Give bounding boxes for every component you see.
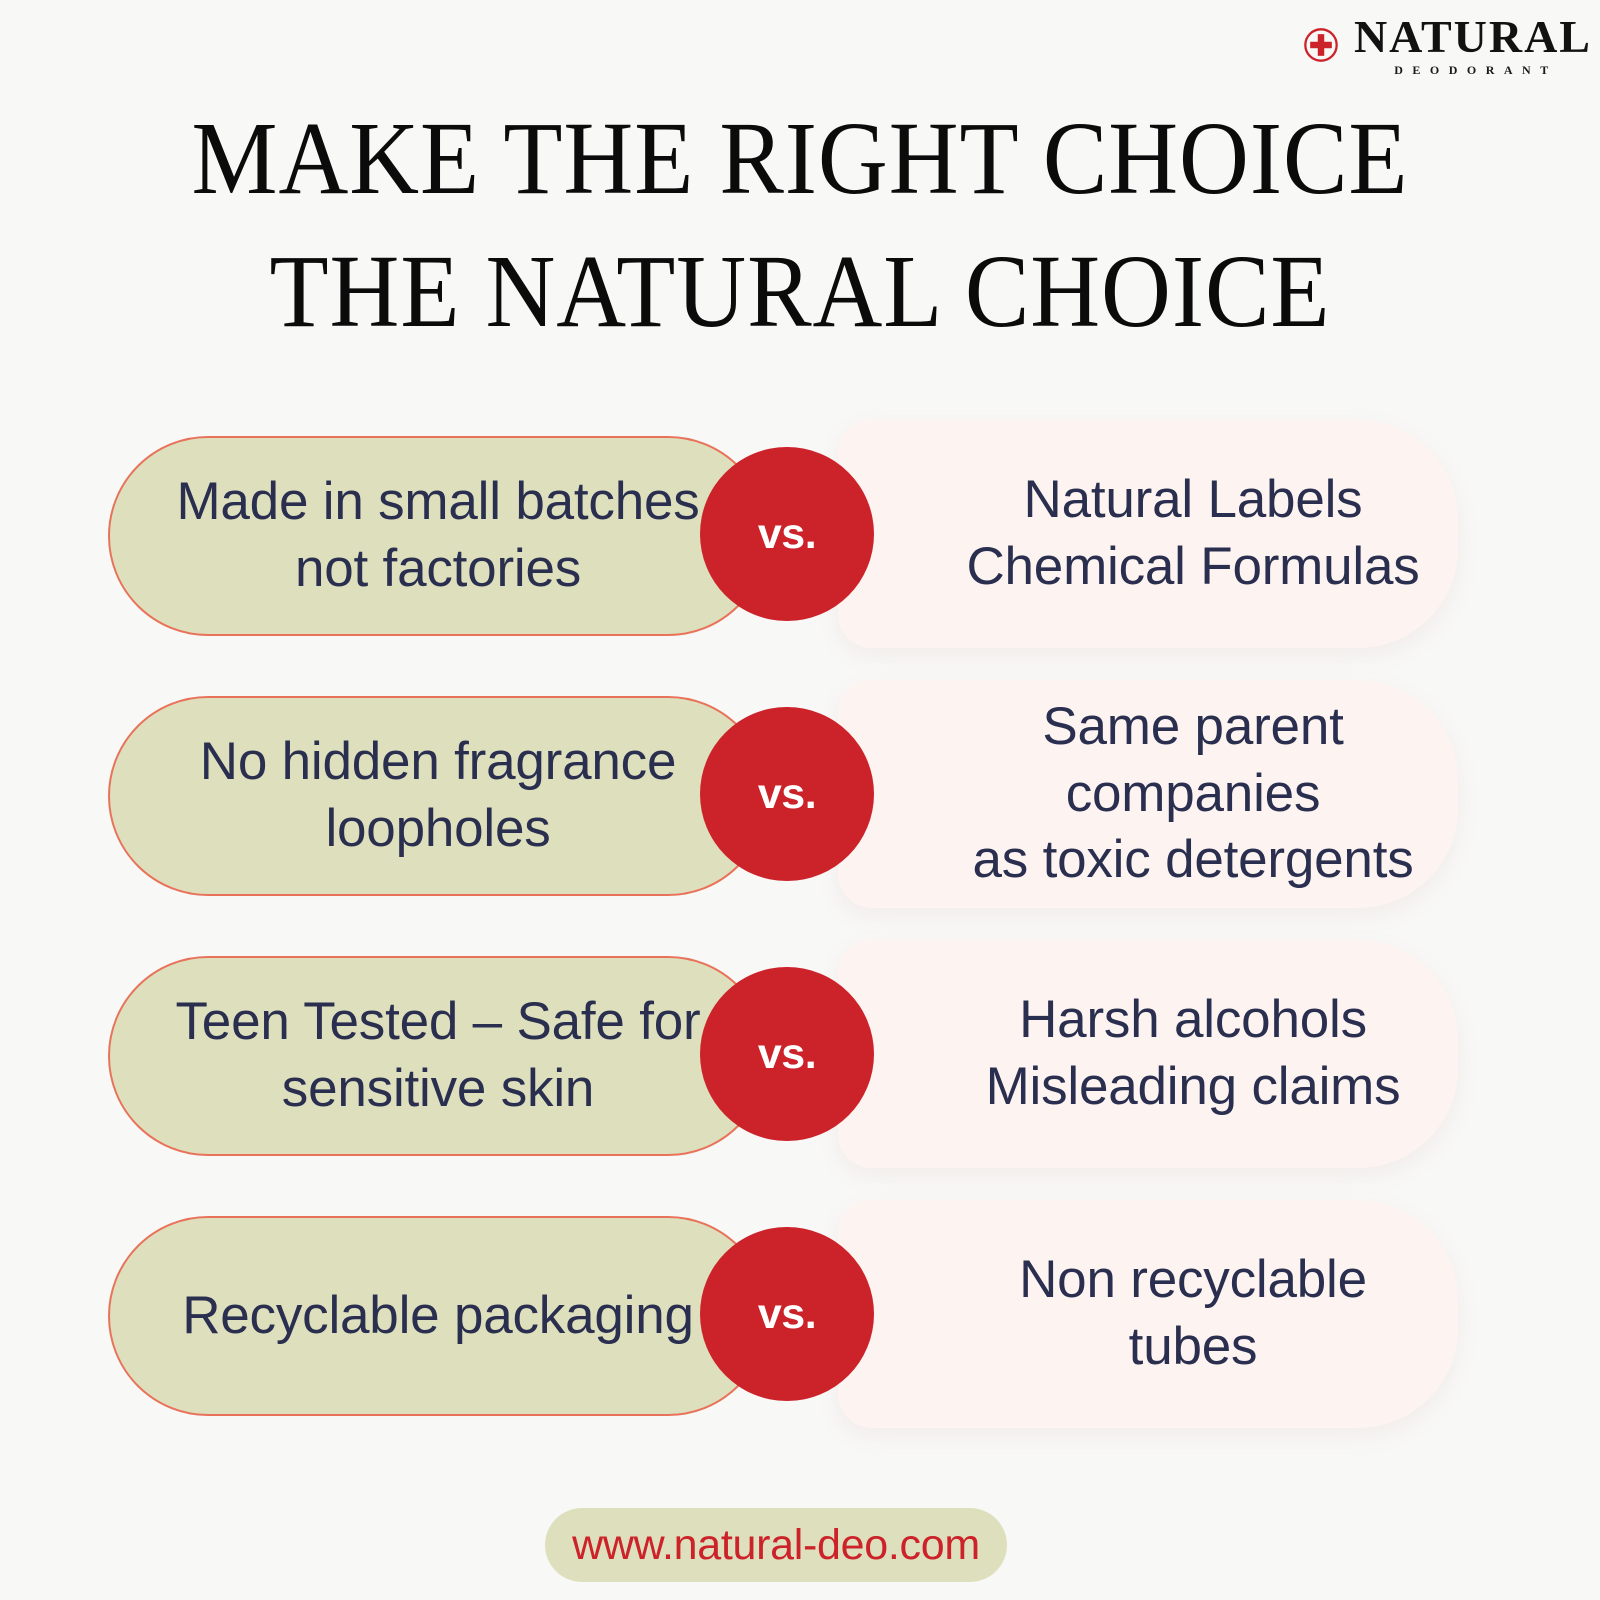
comparison-row: Harsh alcohols Misleading claims Teen Te… [0, 938, 1600, 1170]
conventional-panel: Same parent companies as toxic detergent… [838, 680, 1458, 908]
comparison-row: Same parent companies as toxic detergent… [0, 678, 1600, 910]
natural-line-1: Teen Tested – Safe for [176, 989, 701, 1056]
natural-line-2: not factories [295, 536, 581, 603]
conventional-text: Harsh alcohols Misleading claims [948, 940, 1438, 1168]
brand-name: NATURAL [1354, 14, 1592, 59]
vs-badge: vs. [700, 1227, 874, 1401]
conventional-panel: Non recyclable tubes [838, 1200, 1458, 1428]
conventional-line-2: as toxic detergents [972, 827, 1413, 894]
conventional-panel: Natural Labels Chemical Formulas [838, 420, 1458, 648]
natural-pill: Teen Tested – Safe for sensitive skin [108, 956, 768, 1156]
vs-badge: vs. [700, 447, 874, 621]
natural-pill: Made in small batches not factories [108, 436, 768, 636]
conventional-line-1: Same parent companies [948, 694, 1438, 828]
brand-tagline: DEODORANT [1354, 64, 1592, 76]
website-url: www.natural-deo.com [572, 1521, 980, 1570]
conventional-panel: Harsh alcohols Misleading claims [838, 940, 1458, 1168]
vs-badge: vs. [700, 967, 874, 1141]
conventional-line-1: Harsh alcohols [1019, 987, 1367, 1054]
conventional-line-2: Misleading claims [986, 1054, 1401, 1121]
comparison-list: Natural Labels Chemical Formulas Made in… [0, 418, 1600, 1430]
natural-pill: No hidden fragrance loopholes [108, 696, 768, 896]
comparison-row: Non recyclable tubes Recyclable packagin… [0, 1198, 1600, 1430]
natural-line-1: Made in small batches [176, 469, 699, 536]
conventional-text: Non recyclable tubes [948, 1200, 1438, 1428]
natural-line-2: sensitive skin [282, 1056, 594, 1123]
headline-line-1: MAKE THE RIGHT CHOICE [56, 92, 1544, 225]
medical-cross-circle-icon [1302, 26, 1340, 64]
conventional-line-1: Natural Labels [1024, 467, 1363, 534]
conventional-text: Same parent companies as toxic detergent… [948, 680, 1438, 908]
natural-pill: Recyclable packaging [108, 1216, 768, 1416]
conventional-text: Natural Labels Chemical Formulas [948, 420, 1438, 648]
brand-logo: NATURAL DEODORANT [1302, 14, 1592, 76]
natural-line-1: Recyclable packaging [182, 1283, 694, 1350]
comparison-row: Natural Labels Chemical Formulas Made in… [0, 418, 1600, 650]
conventional-line-2: Chemical Formulas [966, 534, 1419, 601]
headline-line-2: THE NATURAL CHOICE [56, 225, 1544, 358]
website-pill[interactable]: www.natural-deo.com [545, 1508, 1007, 1582]
conventional-line-1: Non recyclable tubes [948, 1247, 1438, 1381]
page-title: MAKE THE RIGHT CHOICE THE NATURAL CHOICE [56, 92, 1544, 358]
vs-badge: vs. [700, 707, 874, 881]
brand-wordmark: NATURAL DEODORANT [1354, 14, 1592, 76]
natural-line-1: No hidden fragrance [200, 729, 676, 796]
natural-line-2: loopholes [325, 796, 550, 863]
